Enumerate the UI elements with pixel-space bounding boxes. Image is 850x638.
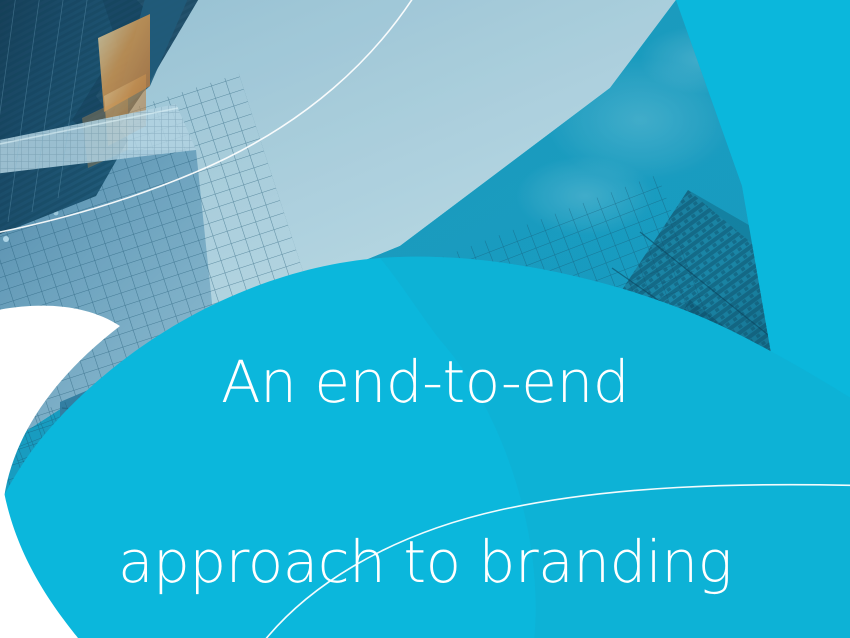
title-slide: An end-to-end approach to branding [0, 0, 850, 638]
slide-artboard [0, 0, 850, 638]
